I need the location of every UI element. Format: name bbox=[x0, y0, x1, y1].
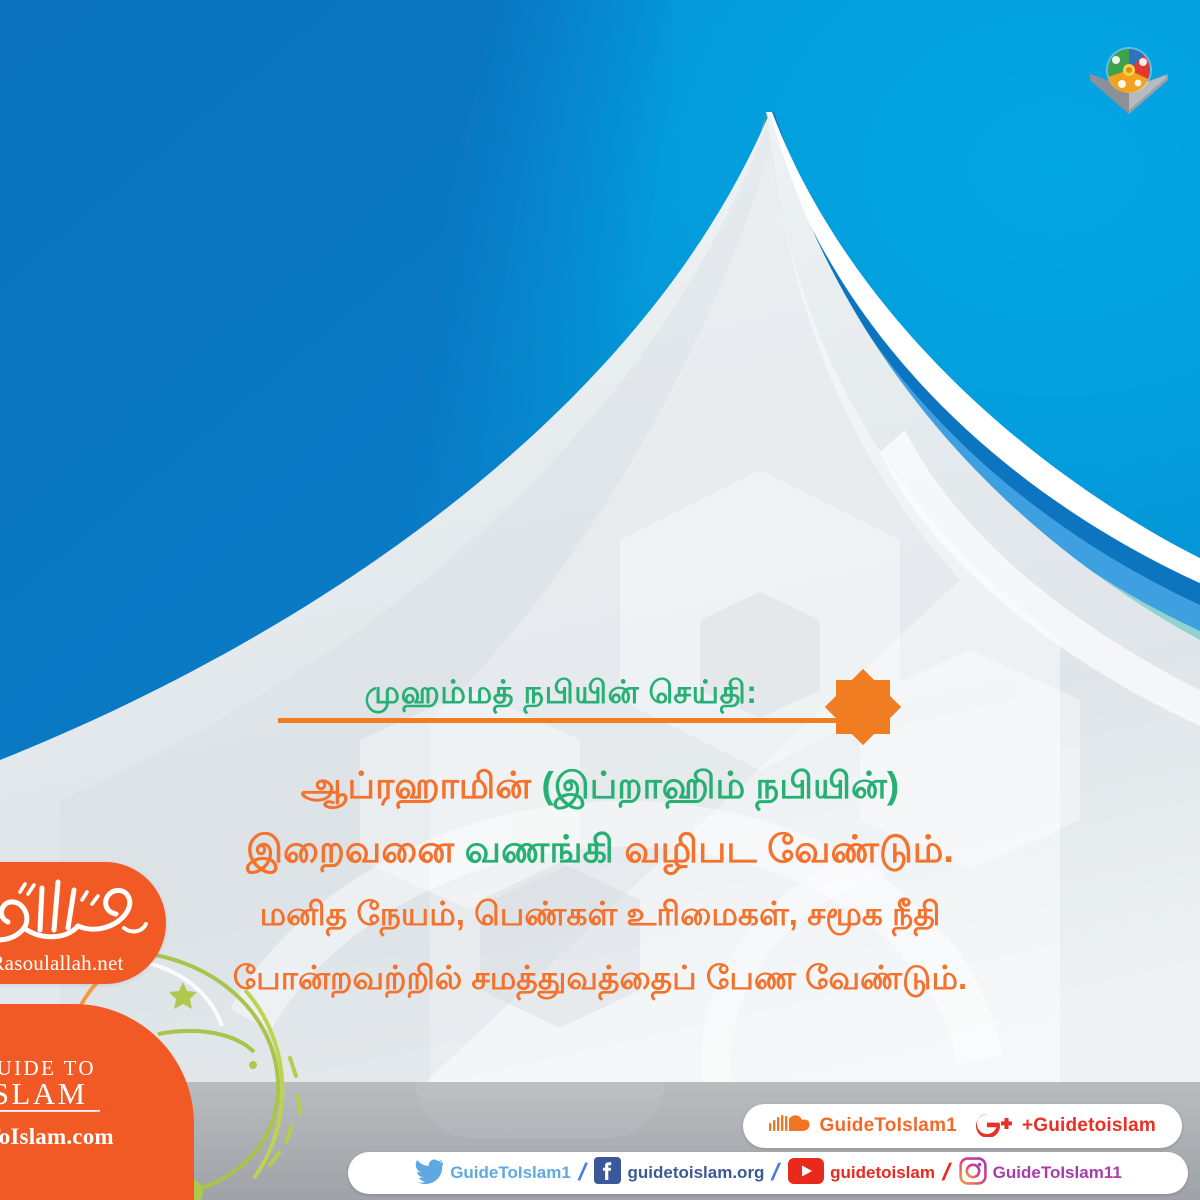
youtube-icon bbox=[788, 1158, 824, 1189]
heading-underline bbox=[278, 718, 852, 723]
soundcloud-label: GuideToIslam1 bbox=[820, 1115, 957, 1137]
instagram-icon bbox=[959, 1157, 987, 1190]
separator-1: / bbox=[575, 1159, 589, 1187]
social-pill-bottom: GuideToIslam1 / guidetoislam.org / guide… bbox=[348, 1152, 1188, 1194]
instagram-label: GuideToIslam11 bbox=[993, 1163, 1122, 1183]
arabic-calligraphy-rasoulallah bbox=[0, 870, 152, 948]
social-pill-top: GuideToIslam1 +Guidetoislam bbox=[743, 1104, 1182, 1148]
guidetoislam-url: GuideToIslam.com bbox=[0, 1124, 134, 1150]
rasoulallah-badge[interactable]: Rasoulallah.net bbox=[0, 862, 166, 984]
guide-to-islam-logo: GUIDE TO ISLAM bbox=[0, 1052, 100, 1114]
twitter-link[interactable]: GuideToIslam1 / bbox=[414, 1158, 587, 1189]
googleplus-link[interactable]: +Guidetoislam bbox=[973, 1111, 1156, 1142]
message-line-2-part-2: வணங்கி bbox=[465, 829, 625, 871]
separator-2: / bbox=[769, 1159, 783, 1187]
youtube-link[interactable]: guidetoislam / bbox=[788, 1158, 952, 1189]
message-line-1: ஆப்ரஹாமின் (இப்றாஹிம் நபியின்) bbox=[0, 754, 1200, 818]
separator-3: / bbox=[939, 1159, 953, 1187]
message-line-2-part-1: இறைவனை bbox=[246, 829, 465, 871]
message-line-2-part-3: வழிபட வேண்டும். bbox=[624, 829, 954, 871]
svg-text:ISLAM: ISLAM bbox=[0, 1076, 87, 1111]
soundcloud-link[interactable]: GuideToIslam1 bbox=[769, 1113, 957, 1140]
twitter-label: GuideToIslam1 bbox=[450, 1163, 571, 1183]
book-globe-logo-icon bbox=[1086, 44, 1172, 118]
soundcloud-icon bbox=[769, 1113, 811, 1140]
message-line-2: இறைவனை வணங்கி வழிபட வேண்டும். bbox=[0, 818, 1200, 882]
facebook-label: guidetoislam.org bbox=[627, 1163, 764, 1183]
facebook-icon bbox=[594, 1157, 621, 1189]
googleplus-label: +Guidetoislam bbox=[1022, 1115, 1156, 1137]
rasoulallah-caption: Rasoulallah.net bbox=[0, 951, 166, 976]
message-line-1-part-2: (இப்றாஹிம் நபியின்) bbox=[541, 765, 899, 806]
google-plus-icon bbox=[973, 1111, 1013, 1142]
instagram-link[interactable]: GuideToIslam11 bbox=[959, 1157, 1122, 1190]
youtube-label: guidetoislam bbox=[830, 1163, 935, 1183]
message-line-1-part-1: ஆப்ரஹாமின் bbox=[301, 765, 542, 806]
page-title: முஹம்மத் நபியின் செய்தி: bbox=[270, 672, 852, 712]
heading-row: முஹம்மத் நபியின் செய்தி: bbox=[270, 672, 930, 754]
footer-decor bbox=[415, 1080, 665, 1138]
twitter-icon bbox=[414, 1158, 444, 1189]
eight-point-star-icon bbox=[836, 680, 890, 734]
facebook-link[interactable]: guidetoislam.org / bbox=[594, 1157, 781, 1189]
poster-canvas: முஹம்மத் நபியின் செய்தி: ஆப்ரஹாமின் (இப்… bbox=[0, 0, 1200, 1200]
